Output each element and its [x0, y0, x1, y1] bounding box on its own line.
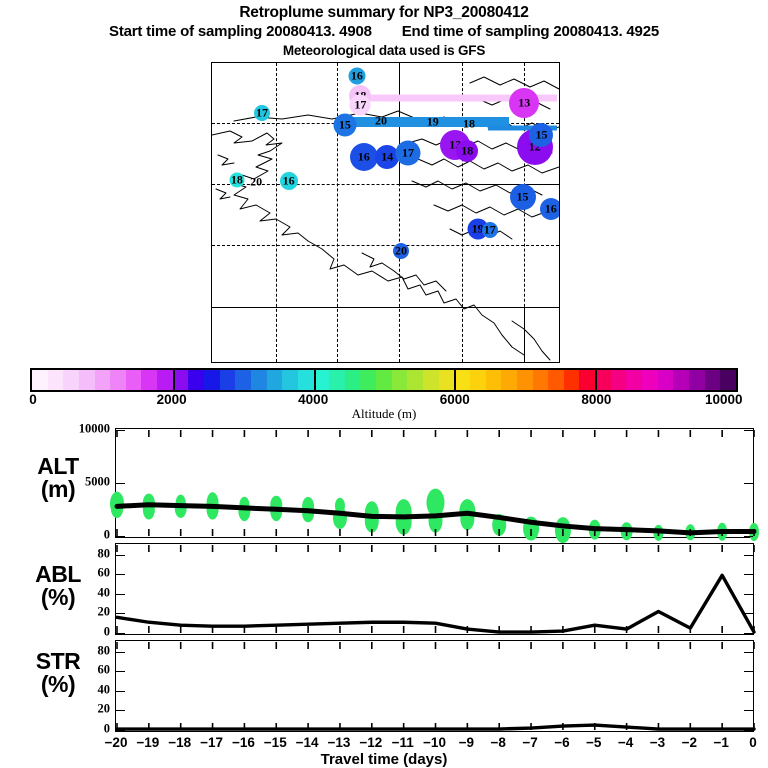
colorbar-tick-label: 10000	[705, 392, 743, 407]
plume-marker-label: 14	[381, 150, 393, 165]
header-block: Retroplume summary for NP3_20080412 Star…	[0, 0, 768, 59]
altitude-distribution-marker	[207, 500, 219, 520]
colorbar-swatch	[689, 370, 705, 390]
colorbar-section-divider	[454, 370, 456, 390]
plume-marker-label: 17	[484, 222, 496, 237]
start-time-label: Start time of sampling 20080413. 4908	[109, 23, 372, 40]
colorbar-swatch	[423, 370, 439, 390]
plume-marker-label: 17	[402, 145, 414, 160]
y-axis-tick-label: 0	[0, 722, 110, 737]
plume-marker-label: 19	[427, 114, 439, 129]
plume-marker-label: 18	[461, 144, 473, 159]
y-axis-tick-label: 80	[0, 546, 110, 561]
travel-time-tick-label: −4	[618, 735, 633, 750]
colorbar-axis-title: Altitude (m)	[0, 406, 768, 422]
travel-time-tick-label: −19	[136, 735, 159, 750]
travel-time-tick-label: −5	[586, 735, 601, 750]
travel-time-tick-label: −18	[168, 735, 191, 750]
map-region-border	[524, 307, 525, 362]
colorbar-swatch	[157, 370, 173, 390]
colorbar-swatch	[720, 370, 736, 390]
travel-time-tick-label: −9	[459, 735, 474, 750]
y-axis-tick	[744, 483, 753, 484]
colorbar-swatch	[564, 370, 580, 390]
colorbar-swatch	[642, 370, 658, 390]
colorbar-swatch	[501, 370, 517, 390]
y-axis-tick-label: 60	[0, 663, 110, 678]
travel-time-tick-label: −16	[232, 735, 255, 750]
altitude-distribution-marker	[333, 507, 347, 529]
colorbar-swatch	[345, 370, 361, 390]
y-axis-tick-label: 40	[0, 585, 110, 600]
colorbar-swatch	[32, 370, 48, 390]
y-axis-tick	[744, 430, 753, 431]
colorbar-swatch	[705, 370, 721, 390]
y-axis-tick	[116, 633, 125, 634]
travel-time-tick-label: −12	[359, 735, 382, 750]
travel-time-tick-label: −10	[423, 735, 446, 750]
y-axis-tick	[744, 633, 753, 634]
y-axis-tick-label: 0	[0, 528, 110, 543]
y-axis-tick	[744, 594, 753, 595]
travel-time-tick-label: −11	[392, 735, 414, 750]
y-axis-tick-label: 60	[0, 566, 110, 581]
y-axis-tick-label: 0	[0, 625, 110, 640]
colorbar-swatch	[360, 370, 376, 390]
colorbar-swatch	[251, 370, 267, 390]
travel-time-tick-label: −3	[650, 735, 665, 750]
plume-marker-label: 18	[463, 116, 475, 131]
str-chart-panel[interactable]	[115, 640, 754, 732]
abl-chart-panel[interactable]	[115, 543, 754, 635]
y-axis-tick	[116, 613, 125, 614]
map-gridline-lon	[337, 63, 338, 362]
y-axis-tick	[744, 730, 753, 731]
colorbar-swatch	[79, 370, 95, 390]
y-axis-tick	[744, 613, 753, 614]
colorbar-swatch	[470, 370, 486, 390]
y-axis-tick	[744, 691, 753, 692]
colorbar-swatch	[235, 370, 251, 390]
end-time-label: End time of sampling 20080413. 4925	[402, 23, 659, 40]
map-region-border	[212, 307, 559, 308]
colorbar-tick-label: 4000	[298, 392, 328, 407]
abl-plot-area	[116, 544, 755, 634]
travel-time-tick-label: −6	[554, 735, 569, 750]
colorbar-section-divider	[314, 370, 316, 390]
y-axis-tick	[116, 671, 125, 672]
travel-time-tick-label: −7	[522, 735, 537, 750]
colorbar-swatch	[376, 370, 392, 390]
colorbar-swatch	[282, 370, 298, 390]
map-gridline-lon	[462, 63, 463, 362]
colorbar-swatch	[548, 370, 564, 390]
retroplume-summary-page: Retroplume summary for NP3_20080412 Star…	[0, 0, 768, 768]
travel-time-tick-label: −14	[296, 735, 319, 750]
colorbar-swatch	[533, 370, 549, 390]
colorbar-swatch	[329, 370, 345, 390]
plume-marker-label: 16	[545, 201, 557, 216]
colorbar-tick-label: 6000	[440, 392, 470, 407]
y-axis-tick	[744, 671, 753, 672]
y-axis-tick	[744, 652, 753, 653]
alt-plot-area	[116, 429, 755, 537]
y-axis-tick-label: 40	[0, 682, 110, 697]
travel-time-tick-label: −1	[713, 735, 728, 750]
map-canvas: 1618171715201918131614171318121518201615…	[212, 63, 559, 362]
colorbar-swatch	[595, 370, 611, 390]
travel-time-tick-label: −8	[490, 735, 505, 750]
map-region-border	[399, 184, 559, 185]
colorbar-swatch	[95, 370, 111, 390]
y-axis-tick	[744, 574, 753, 575]
plume-marker-label: 15	[339, 118, 351, 133]
travel-time-tick-label: −17	[200, 735, 223, 750]
colorbar-swatch	[188, 370, 204, 390]
y-axis-tick-label: 5000	[0, 475, 110, 490]
travel-time-tick-label: −13	[327, 735, 350, 750]
y-axis-tick	[744, 555, 753, 556]
plume-marker-label: 16	[351, 69, 363, 84]
y-axis-tick	[744, 710, 753, 711]
y-axis-tick	[744, 536, 753, 537]
colorbar-section-divider	[595, 370, 597, 390]
sampling-time-line: Start time of sampling 20080413. 4908 En…	[0, 22, 768, 42]
y-axis-tick	[116, 594, 125, 595]
xaxis-title: Travel time (days)	[0, 751, 768, 768]
colorbar-tick-label: 8000	[581, 392, 611, 407]
colorbar-swatch	[486, 370, 502, 390]
colorbar-swatch	[267, 370, 283, 390]
plume-marker-label: 20	[395, 244, 407, 259]
colorbar-swatch	[220, 370, 236, 390]
y-axis-tick	[116, 652, 125, 653]
colorbar-swatch	[173, 370, 189, 390]
colorbar-swatch	[110, 370, 126, 390]
plume-marker-label: 17	[354, 97, 366, 112]
colorbar-swatch	[204, 370, 220, 390]
y-axis-tick-label: 80	[0, 643, 110, 658]
retroplume-map[interactable]: 1618171715201918131614171318121518201615…	[211, 62, 560, 363]
colorbar-swatch	[517, 370, 533, 390]
colorbar-swatch	[63, 370, 79, 390]
y-axis-tick	[116, 483, 125, 484]
met-data-label: Meteorological data used is GFS	[0, 42, 768, 59]
colorbar-swatch	[611, 370, 627, 390]
page-title: Retroplume summary for NP3_20080412	[0, 0, 768, 22]
map-gridline-lon	[276, 63, 277, 362]
plume-marker-label: 16	[283, 174, 295, 189]
y-axis-tick	[116, 555, 125, 556]
travel-time-tick-label: 0	[749, 735, 757, 750]
y-axis-tick	[116, 691, 125, 692]
plume-marker-label: 20	[375, 114, 387, 129]
plume-marker-label: 18	[231, 173, 243, 188]
travel-time-tick-label: −2	[682, 735, 697, 750]
colorbar-swatch	[141, 370, 157, 390]
travel-time-tick-label: −20	[105, 735, 128, 750]
colorbar-swatch	[658, 370, 674, 390]
colorbar-swatch	[579, 370, 595, 390]
y-axis-tick	[116, 536, 125, 537]
colorbar-swatch	[454, 370, 470, 390]
y-axis-tick-label: 20	[0, 702, 110, 717]
str-plot-area	[116, 641, 755, 731]
y-axis-tick-label: 10000	[0, 422, 110, 437]
colorbar-swatch	[673, 370, 689, 390]
colorbar-swatch	[626, 370, 642, 390]
colorbar-swatch	[298, 370, 314, 390]
plume-marker-label: 20	[250, 174, 262, 189]
colorbar-swatch	[48, 370, 64, 390]
colorbar-swatch	[439, 370, 455, 390]
y-axis-tick	[116, 574, 125, 575]
travel-time-tick-labels: −20−19−18−17−16−15−14−13−12−11−10−9−8−7−…	[115, 735, 754, 751]
altitude-distribution-marker	[238, 501, 250, 521]
alt-chart-panel[interactable]	[115, 428, 754, 538]
plume-marker-label: 16	[358, 150, 370, 165]
colorbar-tick-label: 2000	[157, 392, 187, 407]
y-axis-tick	[116, 730, 125, 731]
plume-marker-label: 17	[256, 105, 268, 120]
y-axis-tick	[116, 430, 125, 431]
map-gridline-lat	[212, 245, 559, 246]
travel-time-tick-label: −15	[264, 735, 287, 750]
colorbar-swatch	[407, 370, 423, 390]
abl-series-line	[117, 575, 754, 632]
colorbar-section-divider	[173, 370, 175, 390]
y-axis-tick	[116, 710, 125, 711]
altitude-colorbar[interactable]	[30, 368, 738, 392]
altitude-distribution-marker	[111, 500, 123, 518]
y-axis-tick-label: 20	[0, 605, 110, 620]
plume-marker-label: 13	[518, 96, 530, 111]
colorbar-swatch	[314, 370, 330, 390]
colorbar-tick-label: 0	[29, 392, 37, 407]
colorbar-swatch	[126, 370, 142, 390]
colorbar-swatch	[392, 370, 408, 390]
plume-marker-label: 15	[535, 127, 547, 142]
plume-marker-label: 15	[517, 189, 529, 204]
